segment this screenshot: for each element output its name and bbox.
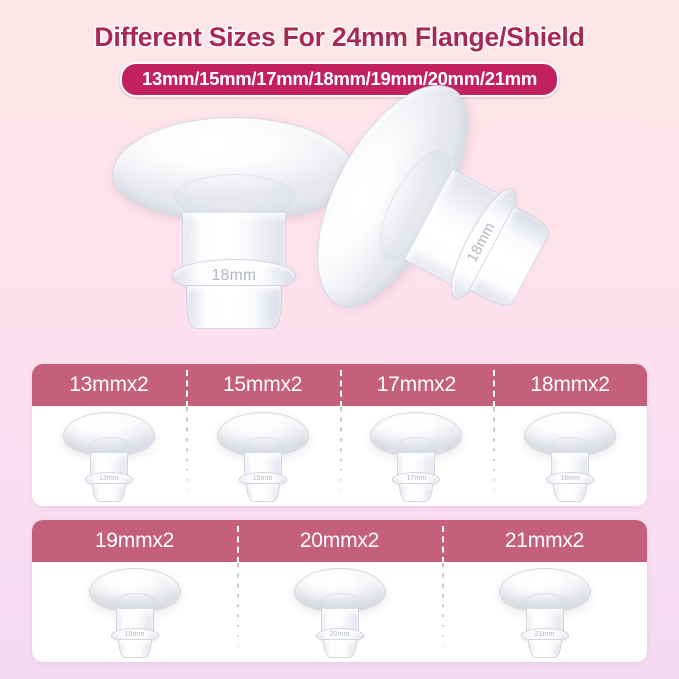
flange-bell bbox=[294, 568, 386, 612]
size-cell-body: 18mm bbox=[493, 406, 647, 506]
flange-base bbox=[323, 639, 357, 658]
flange-bell bbox=[370, 412, 462, 456]
size-row-2: 19mmx2 19mm 20mmx2 bbox=[32, 520, 647, 662]
size-cell-title: 13mmx2 bbox=[32, 364, 186, 406]
flange-base bbox=[553, 483, 587, 502]
size-cell-15mm[interactable]: 15mmx2 15mm bbox=[186, 364, 340, 506]
size-cell-title: 21mmx2 bbox=[442, 520, 647, 562]
size-cell-20mm[interactable]: 20mmx2 20mm bbox=[237, 520, 442, 662]
flange-bell bbox=[63, 412, 155, 456]
sizes-badge-wrap: 13mm/15mm/17mm/18mm/19mm/20mm/21mm bbox=[0, 62, 679, 97]
header-section: Different Sizes For 24mm Flange/Shield 1… bbox=[0, 0, 679, 97]
flange-bell bbox=[217, 412, 309, 456]
size-cell-13mm[interactable]: 13mmx2 13mm bbox=[32, 364, 186, 506]
size-cell-18mm[interactable]: 18mmx2 18mm bbox=[493, 364, 647, 506]
size-cell-title: 20mmx2 bbox=[237, 520, 442, 562]
flange-insert-thumbnail: 13mm bbox=[63, 412, 155, 504]
size-cell-17mm[interactable]: 17mmx2 17mm bbox=[340, 364, 494, 506]
size-cell-title: 19mmx2 bbox=[32, 520, 237, 562]
flange-bell bbox=[89, 568, 181, 612]
size-cell-title: 15mmx2 bbox=[186, 364, 340, 406]
flange-base bbox=[246, 483, 280, 502]
page-title: Different Sizes For 24mm Flange/Shield bbox=[0, 22, 679, 53]
flange-insert-thumbnail: 18mm bbox=[524, 412, 616, 504]
flange-base bbox=[92, 483, 126, 502]
flange-insert-thumbnail: 21mm bbox=[499, 568, 591, 660]
flange-bell bbox=[524, 412, 616, 456]
size-cell-body: 21mm bbox=[442, 562, 647, 662]
size-cell-19mm[interactable]: 19mmx2 19mm bbox=[32, 520, 237, 662]
size-cell-title: 17mmx2 bbox=[340, 364, 494, 406]
size-cell-body: 15mm bbox=[186, 406, 340, 506]
flange-insert-thumbnail: 15mm bbox=[217, 412, 309, 504]
size-cell-body: 19mm bbox=[32, 562, 237, 662]
size-cell-title: 18mmx2 bbox=[493, 364, 647, 406]
size-cell-body: 17mm bbox=[340, 406, 494, 506]
sizes-badge: 13mm/15mm/17mm/18mm/19mm/20mm/21mm bbox=[120, 62, 559, 97]
size-cell-21mm[interactable]: 21mmx2 21mm bbox=[442, 520, 647, 662]
flange-base bbox=[186, 285, 282, 329]
flange-bell bbox=[499, 568, 591, 612]
size-cell-body: 13mm bbox=[32, 406, 186, 506]
flange-insert-thumbnail: 19mm bbox=[89, 568, 181, 660]
flange-insert-thumbnail: 17mm bbox=[370, 412, 462, 504]
flange-insert-thumbnail: 20mm bbox=[294, 568, 386, 660]
flange-bell bbox=[112, 117, 356, 221]
flange-base bbox=[528, 639, 562, 658]
hero-product-showcase: 18mm 18mm bbox=[0, 101, 679, 347]
size-cell-body: 20mm bbox=[237, 562, 442, 662]
hero-flange-insert-tilted: 18mm bbox=[285, 60, 597, 381]
flange-base bbox=[399, 483, 433, 502]
flange-base bbox=[118, 639, 152, 658]
size-grid: 13mmx2 13mm 15mmx2 bbox=[32, 364, 647, 676]
size-row-1: 13mmx2 13mm 15mmx2 bbox=[32, 364, 647, 506]
